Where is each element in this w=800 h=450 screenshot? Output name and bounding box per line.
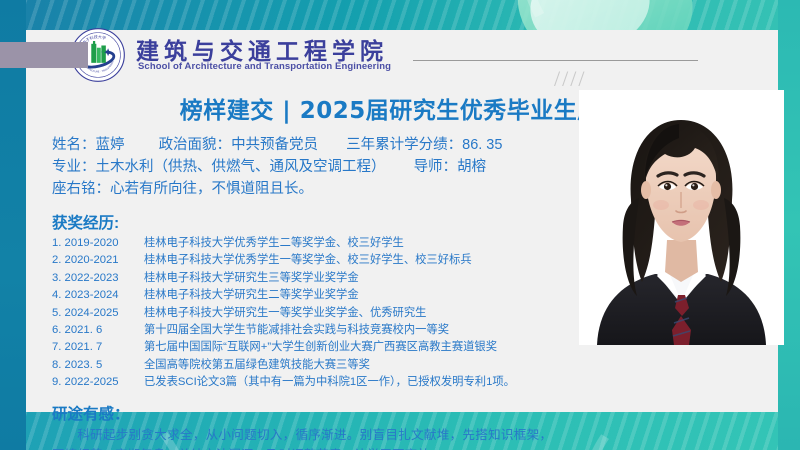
- header-divider-rule: [413, 60, 698, 61]
- mauve-accent-block: [0, 42, 88, 68]
- motto-label: 座右铭：: [52, 181, 110, 197]
- award-date: 7. 2021. 7: [52, 339, 144, 356]
- gpa-value: 86. 35: [462, 137, 502, 153]
- politics-label: 政治面貌：: [159, 137, 232, 153]
- major-label: 专业：: [52, 159, 96, 175]
- name-label: 姓名：: [52, 137, 96, 153]
- award-date: 9. 2022-2025: [52, 374, 144, 391]
- advisor-label: 导师：: [414, 159, 458, 175]
- award-date: 2. 2020-2021: [52, 252, 144, 269]
- reflection-section-heading: 研途有感：: [52, 402, 764, 424]
- award-row: 9. 2022-2025已发表SCI论文3篇（其中有一篇为中科院1区一作），已授…: [52, 374, 764, 391]
- card-header: 桂林电子科技大学 ARCHITECTURE · TRANSPORTATION 建…: [26, 30, 778, 90]
- award-date: 8. 2023. 5: [52, 357, 144, 374]
- award-description: 已发表SCI论文3篇（其中有一篇为中科院1区一作），已授权发明专利1项。: [144, 374, 764, 391]
- award-date: 1. 2019-2020: [52, 235, 144, 252]
- award-date: 4. 2023-2024: [52, 287, 144, 304]
- advisor-value: 胡榕: [457, 159, 486, 175]
- award-date: 5. 2024-2025: [52, 305, 144, 322]
- name-value: 蓝婷: [96, 137, 125, 153]
- award-description: 全国高等院校第五届绿色建筑技能大赛三等奖: [144, 357, 764, 374]
- award-date: 6. 2021. 6: [52, 322, 144, 339]
- motto-value: 心若有所向往，不惧道阻且长。: [110, 181, 313, 197]
- gpa-label: 三年累计学分绩：: [346, 137, 462, 153]
- award-date: 3. 2022-2023: [52, 270, 144, 287]
- politics-value: 中共预备党员: [231, 137, 318, 153]
- award-row: 8. 2023. 5全国高等院校第五届绿色建筑技能大赛三等奖: [52, 357, 764, 374]
- major-value: 土木水利（供热、供燃气、通风及空调工程）: [96, 159, 386, 175]
- school-name-en: School of Architecture and Transportatio…: [138, 61, 391, 72]
- reflection-body-text: 科研起步别贪大求全，从小问题切入，循序渐进。别盲目扎文献堆，先搭知识框架，再填细…: [52, 425, 552, 450]
- slash-decoration: ////: [554, 66, 586, 92]
- graduate-portrait-photo: [579, 90, 784, 345]
